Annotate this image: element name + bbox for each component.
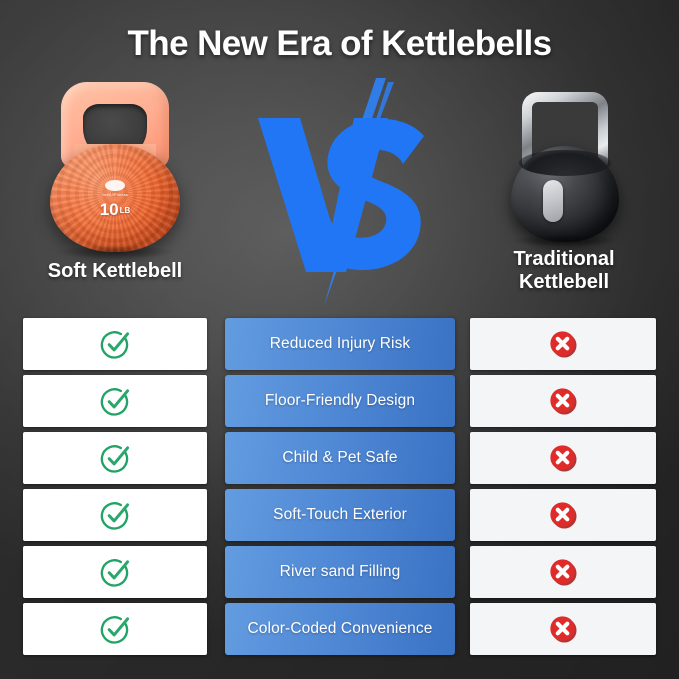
feature-pill[interactable]: Color-Coded Convenience (225, 603, 455, 655)
feature-label: Floor-Friendly Design (265, 392, 415, 410)
feature-pill[interactable]: River sand Filling (225, 546, 455, 598)
traditional-support-cell (470, 546, 656, 598)
red-x-circle-icon (548, 614, 578, 644)
caption-line-2: Kettlebell (519, 271, 609, 293)
soft-support-cell (23, 375, 207, 427)
table-row: Child & Pet Safe (0, 432, 679, 484)
infographic-canvas: The New Era of Kettlebells YesAllFitness (0, 0, 679, 679)
traditional-support-cell (470, 603, 656, 655)
brand-name: YesAllFitness (50, 192, 180, 197)
page-title: The New Era of Kettlebells (0, 24, 679, 64)
traditional-support-cell (470, 318, 656, 370)
brand-logo: YesAllFitness (50, 180, 180, 197)
feature-label: Child & Pet Safe (282, 449, 397, 467)
feature-pill[interactable]: Child & Pet Safe (225, 432, 455, 484)
soft-kettlebell-caption: Soft Kettlebell (8, 260, 222, 283)
soft-support-cell (23, 546, 207, 598)
feature-pill[interactable]: Floor-Friendly Design (225, 375, 455, 427)
hero-comparison-section: YesAllFitness 10LB Soft Kettlebell (0, 78, 679, 310)
feature-pill[interactable]: Reduced Injury Risk (225, 318, 455, 370)
green-check-circle-icon (100, 329, 131, 360)
traditional-kettlebell-neck (519, 150, 611, 176)
table-row: Color-Coded Convenience (0, 603, 679, 655)
green-check-circle-icon (100, 500, 131, 531)
traditional-kettlebell-emblem (543, 180, 563, 222)
weight-label: 10LB (50, 200, 180, 220)
traditional-kettlebell-image (497, 92, 633, 244)
versus-graphic (228, 74, 451, 310)
green-check-circle-icon (100, 557, 131, 588)
traditional-kettlebell-shadow (513, 234, 617, 247)
traditional-support-cell (470, 432, 656, 484)
table-row: Reduced Injury Risk (0, 318, 679, 370)
weight-value: 10 (100, 200, 119, 219)
caption-line-1: Traditional (513, 248, 614, 270)
green-check-circle-icon (100, 443, 131, 474)
feature-label: Color-Coded Convenience (248, 620, 433, 638)
traditional-support-cell (470, 375, 656, 427)
soft-kettlebell-body: YesAllFitness 10LB (50, 144, 180, 252)
red-x-circle-icon (548, 329, 578, 359)
feature-label: River sand Filling (280, 563, 401, 581)
weight-unit: LB (120, 206, 131, 215)
soft-support-cell (23, 432, 207, 484)
comparison-table: Reduced Injury Risk Floor-Friendly Desig… (0, 318, 679, 660)
soft-kettlebell-ridges (50, 144, 180, 252)
traditional-support-cell (470, 489, 656, 541)
soft-support-cell (23, 603, 207, 655)
table-row: River sand Filling (0, 546, 679, 598)
feature-pill[interactable]: Soft-Touch Exterior (225, 489, 455, 541)
soft-support-cell (23, 318, 207, 370)
feature-label: Reduced Injury Risk (270, 335, 411, 353)
table-row: Floor-Friendly Design (0, 375, 679, 427)
green-check-circle-icon (100, 614, 131, 645)
soft-support-cell (23, 489, 207, 541)
traditional-kettlebell-caption: Traditional Kettlebell (457, 248, 671, 294)
soft-kettlebell-shadow (56, 245, 174, 259)
red-x-circle-icon (548, 500, 578, 530)
soft-kettlebell-image: YesAllFitness 10LB (42, 82, 188, 254)
brand-swoosh-icon (105, 180, 125, 191)
red-x-circle-icon (548, 443, 578, 473)
feature-label: Soft-Touch Exterior (273, 506, 407, 524)
green-check-circle-icon (100, 386, 131, 417)
vs-lightning-icon (228, 74, 451, 310)
red-x-circle-icon (548, 386, 578, 416)
table-row: Soft-Touch Exterior (0, 489, 679, 541)
red-x-circle-icon (548, 557, 578, 587)
